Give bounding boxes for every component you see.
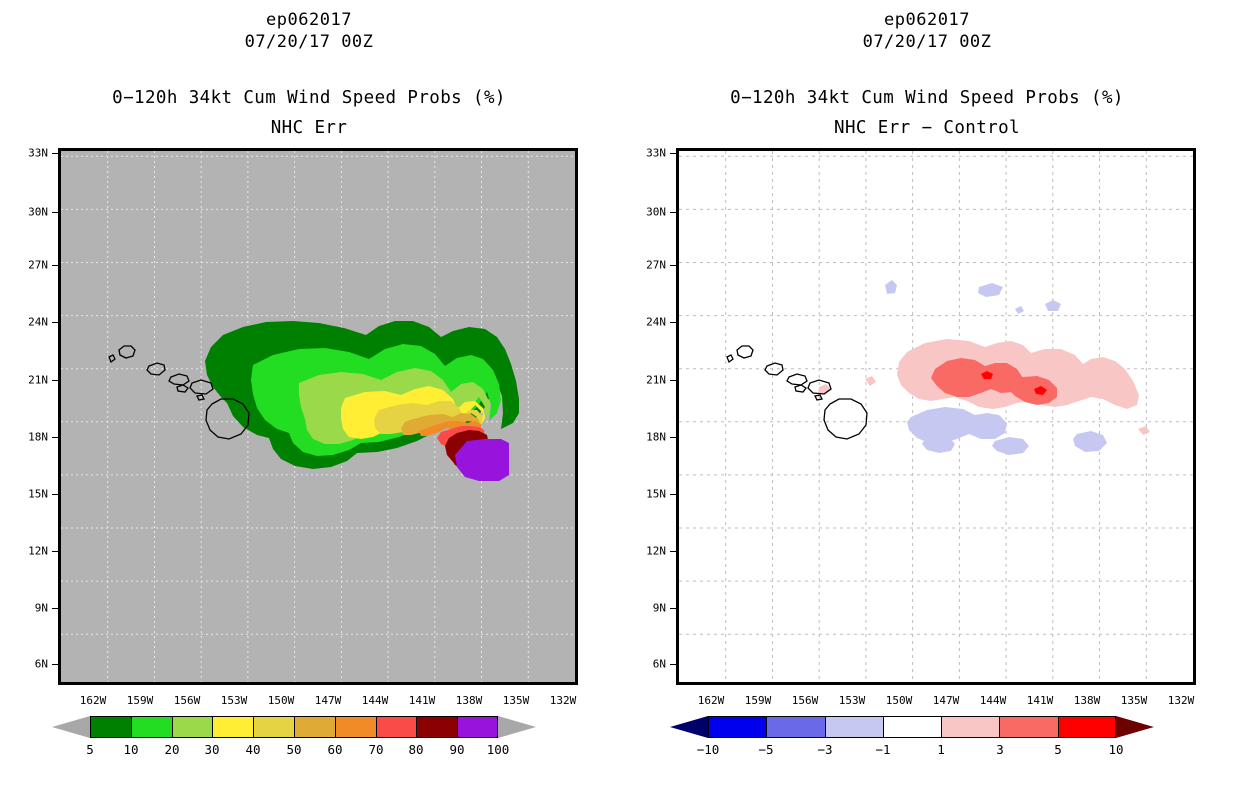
left-ytick-33N: 33N — [14, 147, 48, 160]
right-map-plot — [676, 148, 1196, 685]
left-storm-id: ep062017 — [0, 10, 618, 30]
right-colorbar: −10 −5 −3 −1 1 3 5 10 — [618, 712, 1236, 772]
right-xtick-138W: 138W — [1074, 694, 1101, 707]
right-colorbar-cap-low — [670, 716, 708, 738]
left-ytick-21N: 21N — [14, 374, 48, 387]
right-ytick-18N: 18N — [632, 431, 666, 444]
right-storm-id: ep062017 — [618, 10, 1236, 30]
right-colorbar-cell-3-5 — [999, 716, 1057, 738]
left-colorbar-cell-10-20 — [131, 716, 172, 738]
left-colorbar-label-40: 40 — [245, 742, 260, 757]
figure-root: ep062017 07/20/17 00Z 0−120h 34kt Cum Wi… — [0, 0, 1236, 800]
right-xtick-150W: 150W — [886, 694, 913, 707]
right-ytick-27N: 27N — [632, 259, 666, 272]
left-probability-contours — [205, 321, 519, 481]
right-colorbar-cell-m5-m3 — [766, 716, 824, 738]
panel-nhc-err-minus-control: ep062017 07/20/17 00Z 0−120h 34kt Cum Wi… — [618, 0, 1236, 800]
left-xtick-135W: 135W — [503, 694, 530, 707]
left-colorbar-label-30: 30 — [204, 742, 219, 757]
left-colorbar-label-70: 70 — [368, 742, 383, 757]
left-xtick-138W: 138W — [456, 694, 483, 707]
left-colorbar-label-100: 100 — [487, 742, 510, 757]
right-colorbar-label-m10: −10 — [697, 742, 720, 757]
left-map-svg — [61, 151, 575, 682]
left-xtick-144W: 144W — [362, 694, 389, 707]
diff-neg-6 — [978, 283, 1003, 297]
right-ytick-21N: 21N — [632, 374, 666, 387]
left-colorbar-label-90: 90 — [449, 742, 464, 757]
left-colorbar-cap-low — [52, 716, 90, 738]
right-xtick-132W: 132W — [1168, 694, 1195, 707]
right-colorbar-label-m5: −5 — [758, 742, 773, 757]
left-colorbar-label-50: 50 — [286, 742, 301, 757]
left-ytick-15N: 15N — [14, 488, 48, 501]
left-colorbar-cell-50-60 — [294, 716, 335, 738]
right-xtick-159W: 159W — [745, 694, 772, 707]
left-xtick-147W: 147W — [315, 694, 342, 707]
diff-neg-5 — [1045, 300, 1061, 311]
left-xtick-141W: 141W — [409, 694, 436, 707]
left-ytick-24N: 24N — [14, 316, 48, 329]
right-colorbar-cell-m10-m5 — [708, 716, 766, 738]
left-colorbar-label-80: 80 — [408, 742, 423, 757]
right-plot-subtitle: NHC Err − Control — [618, 118, 1236, 138]
left-ytick-30N: 30N — [14, 206, 48, 219]
left-xtick-153W: 153W — [221, 694, 248, 707]
right-xtick-153W: 153W — [839, 694, 866, 707]
left-xtick-156W: 156W — [174, 694, 201, 707]
right-colorbar-cap-high — [1116, 716, 1154, 738]
left-xtick-159W: 159W — [127, 694, 154, 707]
left-plot-subtitle: NHC Err — [0, 118, 618, 138]
right-difference-contours — [818, 280, 1150, 455]
left-ytick-6N: 6N — [14, 658, 48, 671]
right-colorbar-cell-m1-1 — [883, 716, 941, 738]
left-colorbar-cell-20-30 — [172, 716, 213, 738]
left-colorbar-cell-90-100 — [457, 716, 498, 738]
left-plot-title: 0−120h 34kt Cum Wind Speed Probs (%) — [0, 88, 618, 108]
diff-neg-4 — [1073, 431, 1107, 452]
left-colorbar-cells — [90, 716, 498, 738]
left-date-time: 07/20/17 00Z — [0, 32, 618, 52]
left-ytick-9N: 9N — [14, 602, 48, 615]
right-colorbar-label-10: 10 — [1108, 742, 1123, 757]
right-colorbar-cells — [708, 716, 1116, 738]
left-colorbar-cell-30-40 — [212, 716, 253, 738]
right-ytick-30N: 30N — [632, 206, 666, 219]
right-colorbar-label-1: 1 — [937, 742, 945, 757]
left-colorbar: 5 10 20 30 40 50 60 70 80 90 100 — [0, 712, 618, 772]
right-ytick-33N: 33N — [632, 147, 666, 160]
right-colorbar-cell-5-10 — [1058, 716, 1116, 738]
right-ytick-12N: 12N — [632, 545, 666, 558]
right-ytick-9N: 9N — [632, 602, 666, 615]
right-date-time: 07/20/17 00Z — [618, 32, 1236, 52]
right-xtick-144W: 144W — [980, 694, 1007, 707]
left-colorbar-label-5: 5 — [86, 742, 94, 757]
right-colorbar-label-m3: −3 — [817, 742, 832, 757]
right-map-svg — [679, 151, 1193, 682]
right-colorbar-label-3: 3 — [996, 742, 1004, 757]
left-xtick-150W: 150W — [268, 694, 295, 707]
right-colorbar-label-m1: −1 — [875, 742, 890, 757]
right-colorbar-cell-1-3 — [941, 716, 999, 738]
diff-neg-1 — [907, 407, 1007, 443]
diff-neg-7 — [885, 280, 897, 294]
right-xtick-162W: 162W — [698, 694, 725, 707]
hawaii-islands-right — [727, 346, 867, 439]
diff-pos-speck-1 — [865, 376, 876, 386]
right-plot-title: 0−120h 34kt Cum Wind Speed Probs (%) — [618, 88, 1236, 108]
left-colorbar-cell-5-10 — [90, 716, 131, 738]
right-ytick-24N: 24N — [632, 316, 666, 329]
right-xtick-147W: 147W — [933, 694, 960, 707]
diff-neg-8 — [1015, 306, 1024, 314]
right-xtick-156W: 156W — [792, 694, 819, 707]
right-colorbar-label-5: 5 — [1054, 742, 1062, 757]
right-xtick-141W: 141W — [1027, 694, 1054, 707]
left-map-plot — [58, 148, 578, 685]
right-ytick-6N: 6N — [632, 658, 666, 671]
left-colorbar-cell-80-90 — [416, 716, 457, 738]
left-ytick-27N: 27N — [14, 259, 48, 272]
left-colorbar-label-10: 10 — [123, 742, 138, 757]
left-ytick-18N: 18N — [14, 431, 48, 444]
left-ytick-12N: 12N — [14, 545, 48, 558]
left-xtick-162W: 162W — [80, 694, 107, 707]
right-xtick-135W: 135W — [1121, 694, 1148, 707]
left-colorbar-cap-high — [498, 716, 536, 738]
diff-pos-speck-4 — [1138, 426, 1150, 435]
left-colorbar-label-20: 20 — [164, 742, 179, 757]
panel-nhc-err: ep062017 07/20/17 00Z 0−120h 34kt Cum Wi… — [0, 0, 618, 800]
left-xtick-132W: 132W — [550, 694, 577, 707]
right-colorbar-cell-m3-m1 — [825, 716, 883, 738]
right-ytick-15N: 15N — [632, 488, 666, 501]
left-colorbar-cell-60-70 — [335, 716, 376, 738]
diff-neg-3 — [992, 437, 1029, 455]
left-colorbar-label-60: 60 — [327, 742, 342, 757]
left-colorbar-cell-40-50 — [253, 716, 294, 738]
left-colorbar-cell-70-80 — [376, 716, 417, 738]
